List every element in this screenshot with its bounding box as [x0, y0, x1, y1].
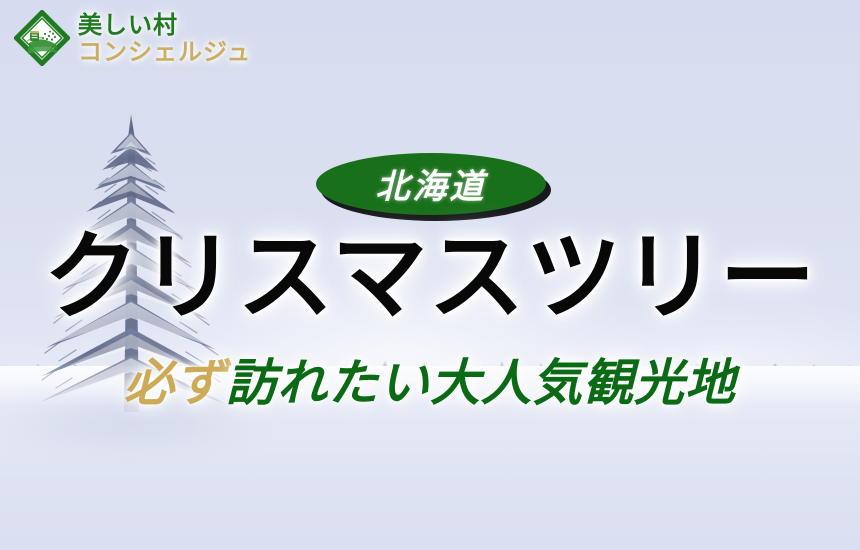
site-logo[interactable]: 美しい村 コンシェルジュ — [14, 10, 251, 66]
logo-wordmark: 美しい村 コンシェルジュ — [78, 13, 251, 64]
hero-banner: 美しい村 コンシェルジュ 北海道 クリスマスツリー 必ず訪れたい大人気観光地 — [0, 0, 860, 550]
page-title-text: クリスマスツリー — [43, 229, 816, 325]
subtitle-highlight: 必ず — [124, 353, 226, 412]
logo-line-primary: 美しい村 — [78, 13, 251, 37]
snow-drift — [0, 398, 280, 458]
light-bloom-right — [520, 300, 860, 460]
page-subtitle: 必ず訪れたい大人気観光地 — [0, 352, 860, 414]
logo-line-secondary: コンシェルジュ — [78, 40, 251, 64]
region-badge-label: 北海道 — [376, 159, 487, 208]
distant-treeline — [0, 352, 860, 378]
page-title: クリスマスツリー — [0, 222, 860, 332]
village-landscape-diamond-logo-icon — [14, 10, 70, 66]
light-bloom-left — [0, 330, 320, 480]
region-badge[interactable]: 北海道 — [316, 153, 546, 215]
page-subtitle-text: 必ず訪れたい大人気観光地 — [124, 358, 736, 408]
region-badge-body: 北海道 — [316, 153, 546, 215]
light-bloom-center — [120, 250, 680, 490]
subtitle-rest: 訪れたい大人気観光地 — [226, 353, 736, 412]
snow-covered-conifer-tree — [36, 112, 246, 422]
snow-field — [0, 366, 860, 550]
